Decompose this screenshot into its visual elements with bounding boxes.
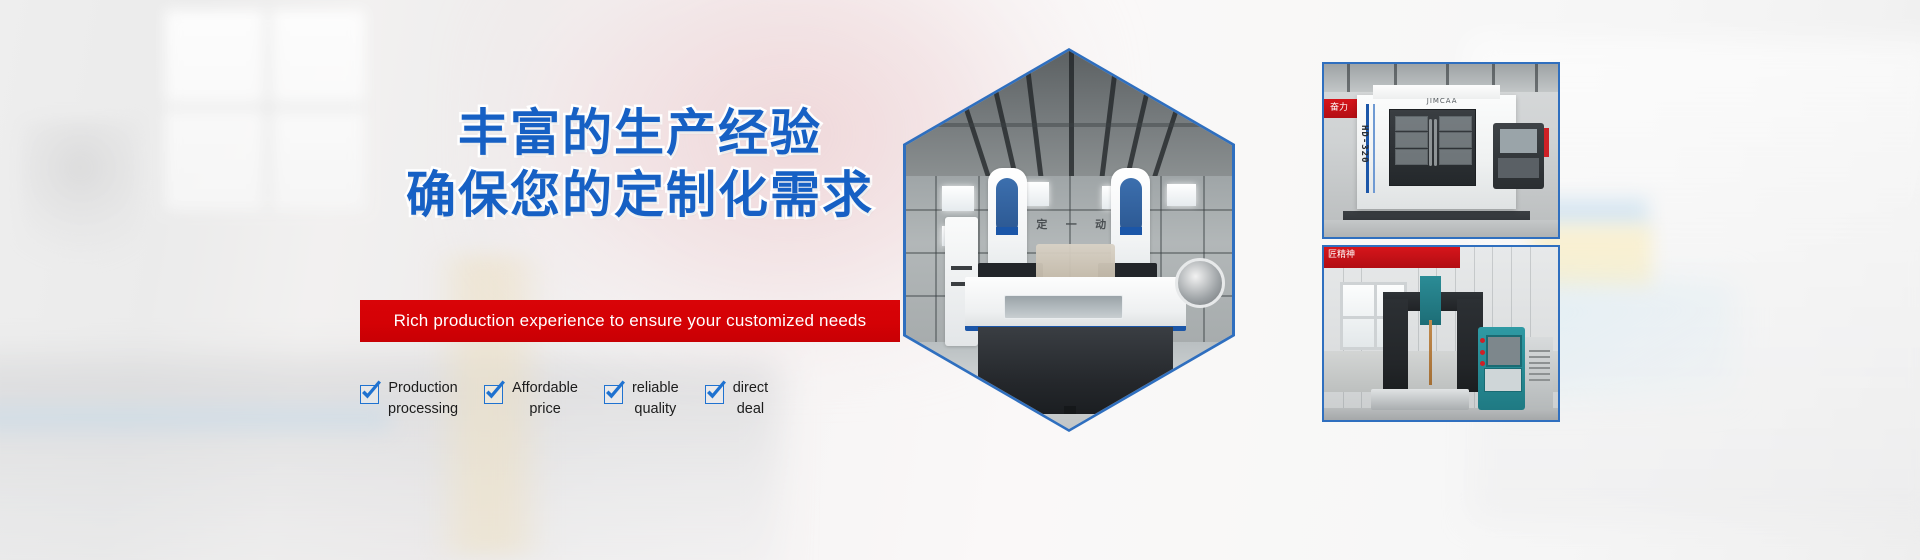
cnc-control-panel (1493, 123, 1544, 189)
thumbnail-sign-text: 匠精神 (1328, 247, 1355, 260)
feature-list: Production processing Affordable price r… (360, 378, 905, 419)
feature-label: direct deal (733, 378, 768, 419)
checkbox-checked-icon[interactable] (360, 385, 379, 404)
feature-item-reliable-quality[interactable]: reliable quality (604, 378, 679, 419)
machine-model-label: HD-320 (1359, 125, 1369, 164)
thumbnail-stack: 奋力 HD-320 JIMCAA (1322, 62, 1560, 422)
checkbox-checked-icon[interactable] (484, 385, 503, 404)
thumbnail-hd320-machining-center[interactable]: 奋力 HD-320 JIMCAA (1322, 62, 1560, 239)
checkbox-checked-icon[interactable] (604, 385, 623, 404)
feature-item-direct-deal[interactable]: direct deal (705, 378, 768, 419)
headline-line-1: 丰富的生产经验 (360, 106, 920, 160)
thumbnail-red-sign: 匠精神 (1324, 247, 1460, 268)
subtitle-bar: Rich production experience to ensure you… (360, 300, 900, 342)
machine-body: HD-320 JIMCAA (1357, 95, 1516, 209)
feature-item-affordable-price[interactable]: Affordable price (484, 378, 578, 419)
promo-banner: 丰富的生产经验 确保您的定制化需求 Rich production experi… (0, 0, 1920, 560)
feature-item-production-processing[interactable]: Production processing (360, 378, 458, 419)
machine-brand-label: JIMCAA (1427, 97, 1458, 105)
headline: 丰富的生产经验 确保您的定制化需求 (360, 106, 920, 222)
feature-label: Production processing (388, 378, 458, 419)
headline-line-2: 确保您的定制化需求 (360, 168, 920, 222)
thumbnail-sign-text: 奋力 (1330, 100, 1348, 113)
cnc-control-cabinet (1478, 327, 1525, 410)
thumbnail-gantry-milling-machine[interactable]: 匠精神 (1322, 245, 1560, 422)
subtitle-text: Rich production experience to ensure you… (394, 311, 867, 331)
feature-label: reliable quality (632, 378, 679, 419)
checkbox-checked-icon[interactable] (705, 385, 724, 404)
feature-label: Affordable price (512, 378, 578, 419)
